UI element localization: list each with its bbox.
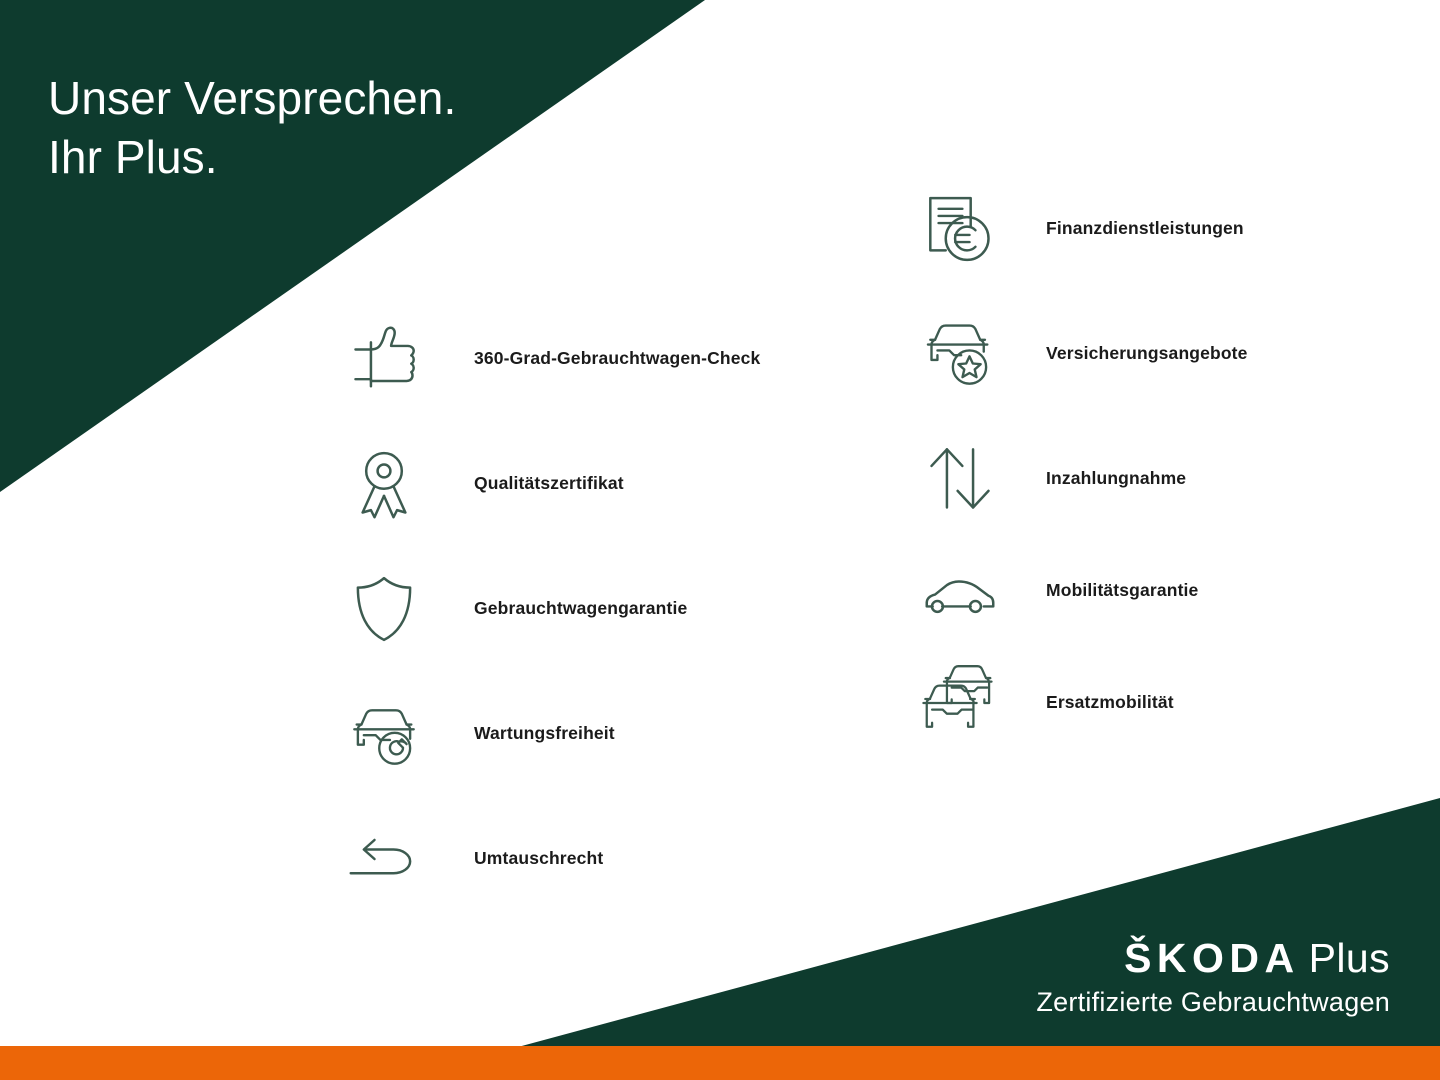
car-side-icon (912, 543, 1008, 639)
feature-label: Gebrauchtwagengarantie (474, 598, 687, 619)
headline-line-2: Ihr Plus. (48, 128, 456, 187)
headline-line-1: Unser Versprechen. (48, 69, 456, 128)
feature-item: Ersatzmobilität (912, 640, 1248, 765)
logo-wordmark: ŠKODAPlus (1036, 938, 1390, 980)
feature-item: Versicherungsangebote (912, 291, 1248, 416)
feature-item: Inzahlungnahme (912, 416, 1248, 541)
skoda-plus-logo: ŠKODAPlus Zertifizierte Gebrauchtwagen (1036, 938, 1390, 1018)
feature-item: Finanzdienstleistungen (912, 166, 1248, 291)
page-title: Unser Versprechen. Ihr Plus. (48, 69, 456, 187)
logo-brand-suffix: Plus (1309, 935, 1390, 981)
car-wrench-icon (336, 686, 432, 782)
feature-list-right: Finanzdienstleistungen Versicherungsange… (912, 166, 1248, 765)
shield-icon (336, 561, 432, 657)
feature-item: Qualitätszertifikat (336, 421, 760, 546)
logo-brand: ŠKODA (1124, 935, 1300, 981)
feature-label: Versicherungsangebote (1046, 343, 1248, 364)
skoda-plus-promise-graphic: Unser Versprechen. Ihr Plus. 360-Grad-Ge… (0, 0, 1440, 1080)
feature-label: Inzahlungnahme (1046, 468, 1186, 489)
feature-list-left: 360-Grad-Gebrauchtwagen-Check Qualitätsz… (336, 296, 760, 921)
bottom-orange-bar (0, 1046, 1440, 1080)
feature-item: Gebrauchtwagengarantie (336, 546, 760, 671)
feature-item: 360-Grad-Gebrauchtwagen-Check (336, 296, 760, 421)
feature-item: Wartungsfreiheit (336, 671, 760, 796)
logo-tagline: Zertifizierte Gebrauchtwagen (1036, 987, 1390, 1018)
car-star-icon (912, 306, 1008, 402)
feature-label: Umtauschrecht (474, 848, 603, 869)
award-rosette-icon (336, 436, 432, 532)
feature-label: Finanzdienstleistungen (1046, 218, 1244, 239)
feature-item: Mobilitätsgarantie (912, 541, 1248, 640)
feature-item: Umtauschrecht (336, 796, 760, 921)
up-down-arrows-icon (912, 431, 1008, 527)
document-euro-icon (912, 181, 1008, 277)
feature-label: 360-Grad-Gebrauchtwagen-Check (474, 348, 760, 369)
feature-label: Ersatzmobilität (1046, 692, 1174, 713)
feature-label: Mobilitätsgarantie (1046, 580, 1198, 601)
feature-label: Qualitätszertifikat (474, 473, 624, 494)
thumbs-up-icon (336, 311, 432, 407)
return-arrow-icon (336, 811, 432, 907)
two-cars-icon (912, 655, 1008, 751)
feature-label: Wartungsfreiheit (474, 723, 615, 744)
